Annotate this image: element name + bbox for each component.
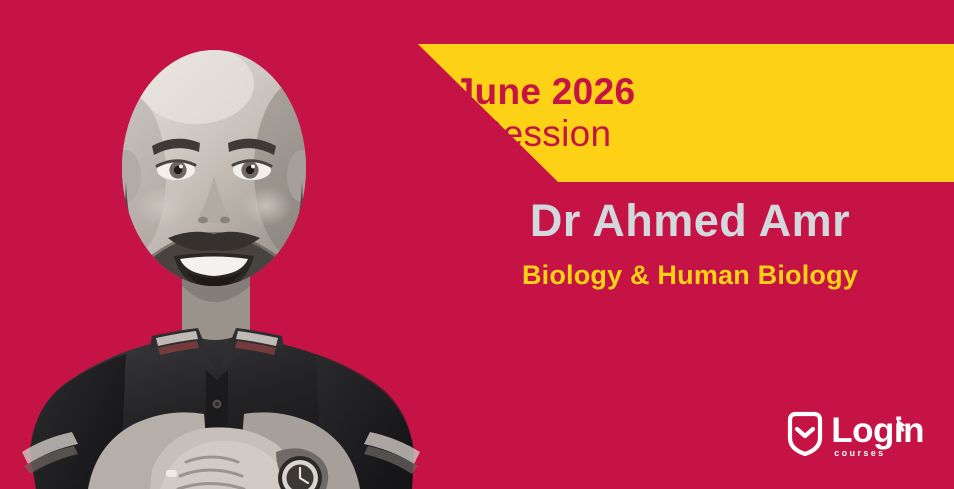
login-courses-logo[interactable]: Login courses (786, 411, 924, 461)
session-ribbon: June 2026 Session (0, 44, 954, 182)
instructor-name: Dr Ahmed Amr (455, 196, 925, 246)
session-month-label: June 2026 (454, 73, 636, 112)
shield-chevron-icon (786, 411, 824, 461)
course-promo-banner: June 2026 Session Dr Ahmed Amr Biology &… (0, 0, 954, 489)
logo-tagline: courses (834, 448, 885, 458)
session-word-label: Session (478, 115, 612, 154)
headline-block: Dr Ahmed Amr Biology & Human Biology (455, 196, 925, 291)
cursor-arrow-icon (896, 418, 909, 438)
logo-wordmark: Login (831, 414, 924, 448)
logo-wordblock: Login courses (831, 414, 924, 459)
instructor-subject: Biology & Human Biology (455, 260, 925, 291)
